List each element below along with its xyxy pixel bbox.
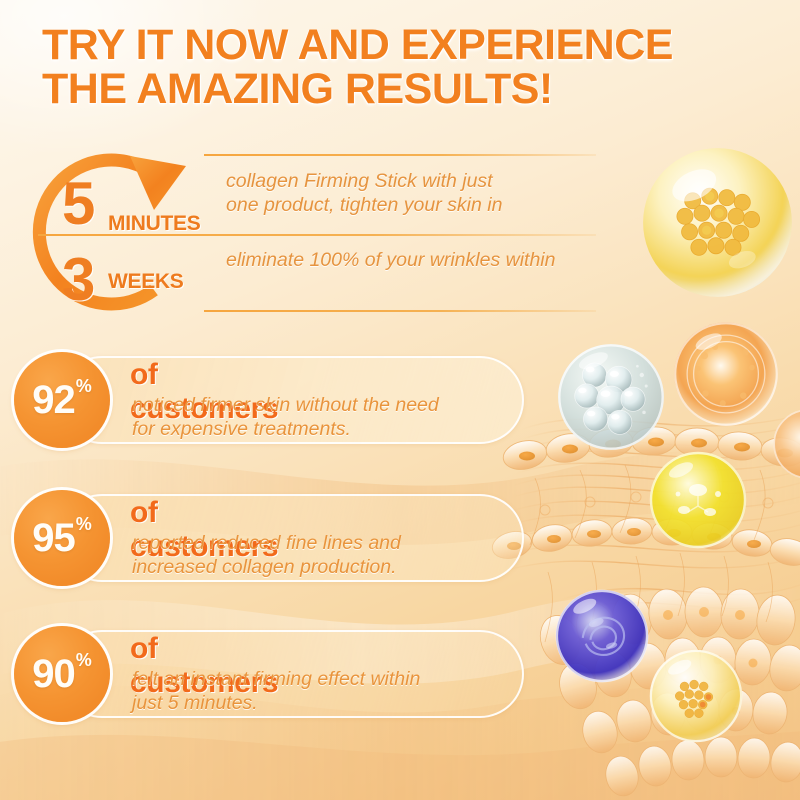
honeycomb-sphere-yellow-bottom — [648, 648, 744, 744]
percent-symbol: % — [76, 650, 92, 671]
glow-sphere-orange-partial — [772, 408, 800, 480]
status-badge: 95 % — [14, 490, 110, 586]
percent-symbol: % — [76, 514, 92, 535]
divider-top — [204, 154, 596, 156]
page-title: TRY IT NOW AND EXPERIENCE THE AMAZING RE… — [42, 24, 742, 112]
stat-body: felt an instant firming effect within ju… — [132, 668, 512, 716]
divider-bottom — [204, 310, 596, 312]
stat-percent-value: 92 — [32, 380, 75, 420]
promo-poster: TRY IT NOW AND EXPERIENCE THE AMAZING RE… — [0, 0, 800, 800]
status-badge: 92 % — [14, 352, 110, 448]
swirl-sphere-blue — [554, 588, 650, 684]
stat-body: noticed firmer skin without the need for… — [132, 394, 512, 442]
honeycomb-sphere-yellow-top — [640, 145, 795, 300]
bubble-cluster-sphere-silver — [556, 342, 666, 452]
oil-sphere-yellow — [648, 450, 748, 550]
stat-body: reported reduced fine lines and increase… — [132, 532, 512, 580]
stat-percent-value: 90 — [32, 654, 75, 694]
stat-percent-value: 95 — [32, 518, 75, 558]
percent-symbol: % — [76, 376, 92, 397]
time-text-minutes: collagen Firming Stick with just one pro… — [226, 170, 606, 218]
status-badge: 90 % — [14, 626, 110, 722]
time-number-minutes: 5 — [62, 174, 95, 234]
time-text-weeks: eliminate 100% of your wrinkles within — [226, 249, 626, 273]
time-promise-block: 5 MINUTES collagen Firming Stick with ju… — [26, 152, 596, 317]
glow-sphere-orange — [672, 320, 780, 428]
time-unit-minutes: MINUTES — [108, 212, 200, 236]
time-unit-weeks: WEEKS — [108, 270, 184, 294]
time-number-weeks: 3 — [62, 250, 95, 310]
